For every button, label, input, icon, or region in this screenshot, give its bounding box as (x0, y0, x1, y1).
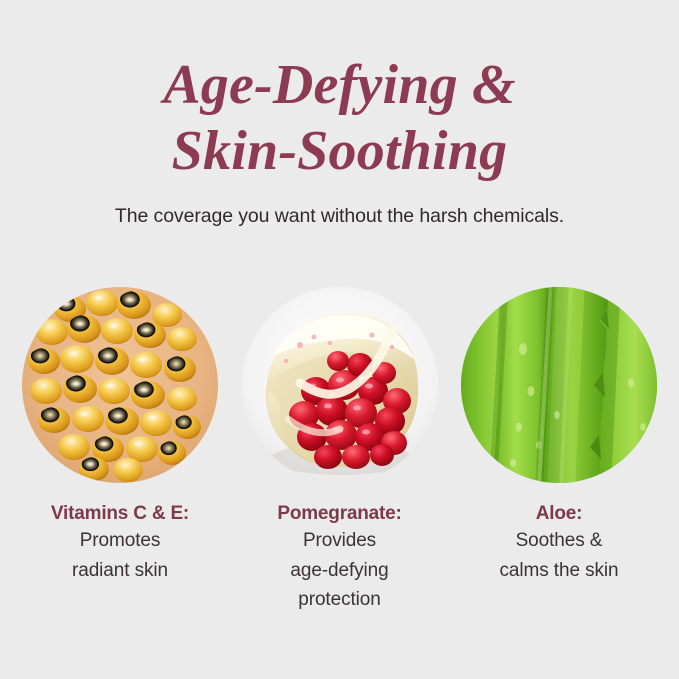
ingredient-columns: Vitamins C & E: Promotes radiant skin (0, 287, 679, 614)
ingredient-name: Pomegranate: (232, 501, 447, 526)
ingredient-description: Soothes & calms the skin (452, 526, 667, 585)
ingredient-description-line: Provides (232, 526, 447, 555)
ingredient-description-line: protection (232, 585, 447, 614)
ingredient-description-line: age-defying (232, 556, 447, 585)
ingredient-column-vitamins: Vitamins C & E: Promotes radiant skin (22, 287, 218, 614)
headline-line-1: Age-Defying & (0, 52, 679, 118)
ingredient-name: Vitamins C & E: (13, 501, 228, 526)
ingredient-description-line: Soothes & (452, 526, 667, 555)
ingredient-description-line: calms the skin (452, 556, 667, 585)
ingredient-column-aloe: Aloe: Soothes & calms the skin (461, 287, 657, 614)
ingredient-description-line: radiant skin (13, 556, 228, 585)
ingredient-description: Provides age-defying protection (232, 526, 447, 614)
ingredient-description-line: Promotes (13, 526, 228, 555)
ingredient-caption: Pomegranate: Provides age-defying protec… (232, 501, 447, 614)
ingredient-name: Aloe: (452, 501, 667, 526)
subtitle: The coverage you want without the harsh … (0, 205, 679, 228)
vitamin-capsules-photo (22, 287, 218, 483)
ingredient-caption: Aloe: Soothes & calms the skin (452, 501, 667, 585)
aloe-leaves-photo (461, 287, 657, 483)
ingredient-column-pomegranate: Pomegranate: Provides age-defying protec… (242, 287, 438, 614)
headline-line-2: Skin-Soothing (0, 118, 679, 184)
page-title: Age-Defying & Skin-Soothing (0, 52, 679, 184)
ingredient-benefits-banner: Age-Defying & Skin-Soothing The coverage… (0, 0, 679, 679)
ingredient-caption: Vitamins C & E: Promotes radiant skin (13, 501, 228, 585)
pomegranate-photo (242, 287, 438, 483)
ingredient-description: Promotes radiant skin (13, 526, 228, 585)
